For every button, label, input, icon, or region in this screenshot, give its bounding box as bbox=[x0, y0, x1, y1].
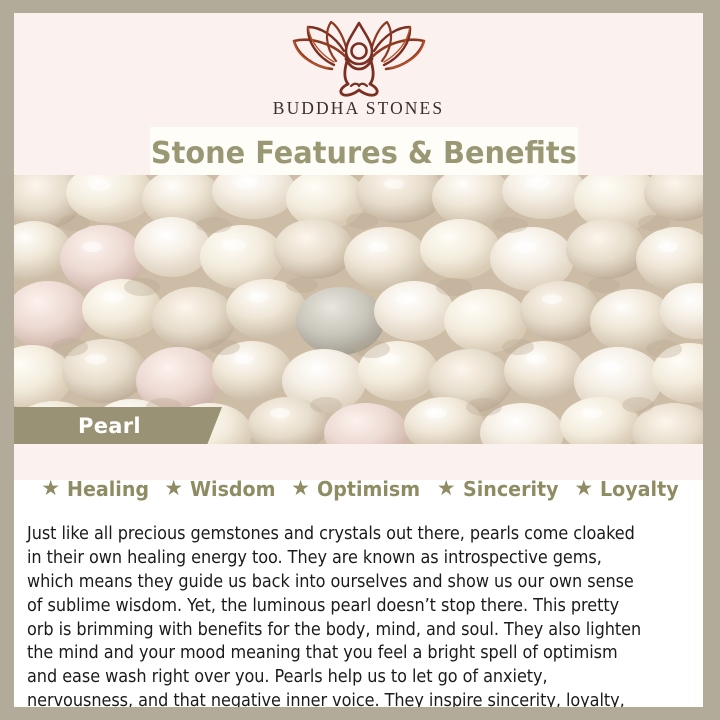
brand-name: BUDDHA STONES bbox=[264, 98, 454, 119]
poster-page: BUDDHA STONES Stone Features & Benefits bbox=[0, 0, 720, 720]
stone-name: Pearl bbox=[78, 414, 141, 438]
benefit-keyword-healing: ★ Healing bbox=[32, 477, 155, 501]
poster-card: BUDDHA STONES Stone Features & Benefits bbox=[14, 13, 703, 707]
benefit-keyword-label: Sincerity bbox=[463, 477, 559, 501]
section-title-banner: Stone Features & Benefits bbox=[150, 127, 578, 179]
benefit-keyword-sincerity: ★ Sincerity bbox=[428, 477, 566, 501]
page-title: Stone Features & Benefits bbox=[151, 136, 577, 171]
brand-header: BUDDHA STONES bbox=[14, 13, 703, 131]
benefit-keyword-loyalty: ★ Loyalty bbox=[565, 477, 684, 501]
star-icon: ★ bbox=[574, 478, 593, 499]
benefit-keyword-wisdom: ★ Wisdom bbox=[155, 477, 282, 501]
star-icon: ★ bbox=[164, 478, 183, 499]
benefits-panel: ★ Healing ★ Wisdom ★ Optimism ★ Sincerit… bbox=[14, 444, 703, 707]
stone-photo: Pearl bbox=[14, 175, 703, 444]
benefit-keyword-label: Wisdom bbox=[190, 477, 276, 501]
star-icon: ★ bbox=[437, 478, 456, 499]
stone-name-banner: Pearl bbox=[14, 407, 222, 444]
keyword-strip-background bbox=[14, 444, 703, 480]
pearls-image bbox=[14, 175, 703, 444]
brand-logo: BUDDHA STONES bbox=[264, 21, 454, 119]
star-icon: ★ bbox=[291, 478, 310, 499]
star-icon: ★ bbox=[41, 478, 60, 499]
benefit-keyword-list: ★ Healing ★ Wisdom ★ Optimism ★ Sincerit… bbox=[14, 477, 703, 501]
benefit-keyword-label: Healing bbox=[67, 477, 149, 501]
benefit-keyword-optimism: ★ Optimism bbox=[282, 477, 428, 501]
benefit-keyword-label: Optimism bbox=[317, 477, 420, 501]
lotus-meditation-figure-icon bbox=[284, 21, 434, 97]
stone-description: Just like all precious gemstones and cry… bbox=[27, 523, 642, 707]
benefit-keyword-label: Loyalty bbox=[600, 477, 679, 501]
